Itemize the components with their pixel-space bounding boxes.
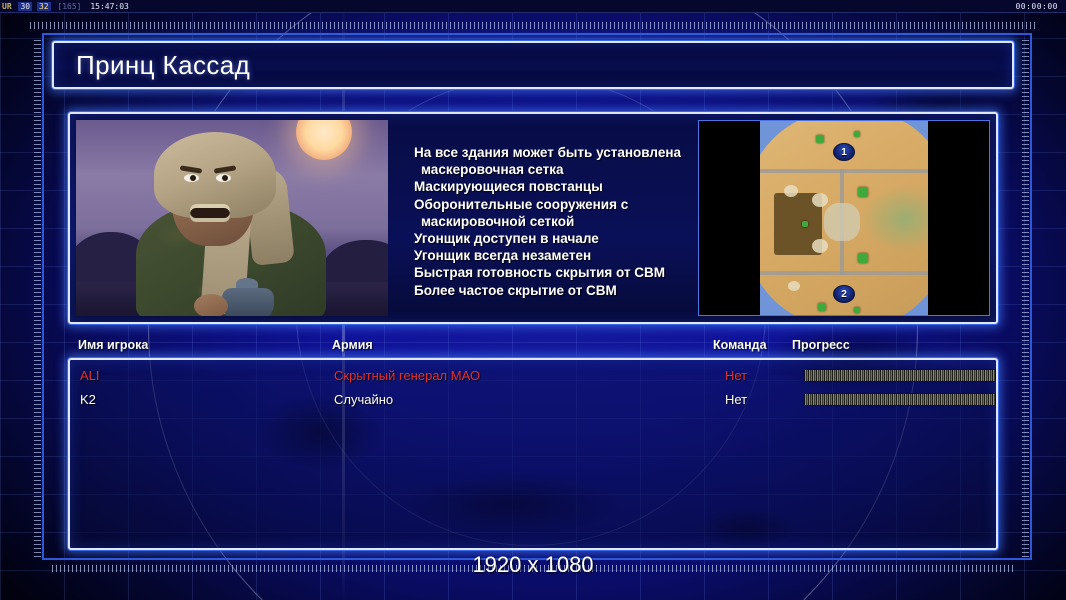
top-hud-bar: UR 30 32 [165] 15:47:03 00:00:00 — [0, 0, 1066, 13]
hud-timer: 00:00:00 — [1015, 0, 1058, 13]
army-cell[interactable]: Скрытный генерал МАО — [334, 364, 480, 388]
minimap-center-zone — [824, 203, 860, 241]
minimap-tree — [818, 303, 826, 311]
figure-hand — [194, 294, 228, 316]
header-progress: Прогресс — [792, 338, 850, 352]
header-player-name: Имя игрока — [78, 338, 148, 352]
hud-value-1: 30 — [18, 2, 32, 11]
player-table-headers: Имя игрока Армия Команда Прогресс — [68, 338, 998, 358]
description-line: маскировочной сеткой — [414, 213, 698, 230]
resolution-label: 1920 x 1080 — [0, 552, 1066, 578]
faction-description: На все здания может быть установленамаск… — [388, 120, 698, 316]
minimap-start-position-2[interactable]: 2 — [833, 285, 855, 303]
figure-mouth — [190, 204, 230, 222]
teapot — [222, 288, 274, 316]
game-lobby-screen: UR 30 32 [165] 15:47:03 00:00:00 Принц К… — [0, 0, 1066, 600]
progress-bar — [804, 393, 996, 406]
faction-portrait — [76, 120, 388, 316]
figure-pupil-left — [190, 175, 196, 181]
minimap-road-north — [760, 169, 928, 173]
minimap-preview: 1 2 — [698, 120, 990, 316]
faction-info-panel: На все здания может быть установленамаск… — [68, 112, 998, 324]
description-line: Быстрая готовность скрытия от СВМ — [414, 264, 698, 281]
player-list-panel: ALIСкрытный генерал МАОНетK2СлучайноНет — [68, 358, 998, 550]
hud-bracket: [165] — [55, 2, 83, 11]
description-line: Маскирующиеся повстанцы — [414, 178, 698, 195]
minimap-rock — [812, 239, 828, 253]
header-team: Команда — [713, 338, 767, 352]
header-army: Армия — [332, 338, 373, 352]
minimap-tree — [854, 131, 860, 137]
description-line: На все здания может быть установлена — [414, 144, 698, 161]
minimap-start-position-1[interactable]: 1 — [833, 143, 855, 161]
description-line: Оборонительные сооружения с — [414, 196, 698, 213]
minimap-rock — [812, 193, 828, 207]
hud-value-2: 32 — [37, 2, 51, 11]
frame-edge-top — [42, 33, 1032, 35]
player-name-cell[interactable]: ALI — [80, 364, 100, 388]
minimap-tree — [854, 307, 860, 313]
ruler-left — [34, 40, 41, 560]
table-row[interactable]: K2СлучайноНет — [80, 388, 988, 412]
minimap-tree — [802, 221, 808, 227]
description-line: Более частое скрытие от СВМ — [414, 282, 698, 299]
minimap-tree — [858, 253, 868, 263]
ruler-right — [1022, 40, 1029, 560]
minimap-road-south — [760, 271, 928, 275]
hud-clock: 15:47:03 — [88, 2, 131, 11]
player-name-cell[interactable]: K2 — [80, 388, 96, 412]
minimap-rock — [784, 185, 798, 197]
progress-bar — [804, 369, 996, 382]
minimap-tree — [858, 187, 868, 197]
page-title: Принц Кассад — [76, 50, 250, 81]
description-line: маскеровочная сетка — [414, 161, 698, 178]
figure-pupil-right — [222, 175, 228, 181]
sun-icon — [296, 120, 352, 160]
frame-edge-left — [42, 33, 44, 560]
title-panel: Принц Кассад — [52, 41, 1014, 89]
minimap-rock — [788, 281, 800, 291]
table-row[interactable]: ALIСкрытный генерал МАОНет — [80, 364, 988, 388]
team-cell[interactable]: Нет — [725, 388, 747, 412]
team-cell[interactable]: Нет — [725, 364, 747, 388]
description-line: Угонщик доступен в начале — [414, 230, 698, 247]
frame-edge-right — [1030, 33, 1032, 560]
minimap-tree — [816, 135, 824, 143]
army-cell[interactable]: Случайно — [334, 388, 393, 412]
description-line: Угонщик всегда незаметен — [414, 247, 698, 264]
hud-label: UR — [0, 2, 14, 11]
minimap-image: 1 2 — [760, 121, 928, 316]
ruler-top — [30, 22, 1036, 29]
